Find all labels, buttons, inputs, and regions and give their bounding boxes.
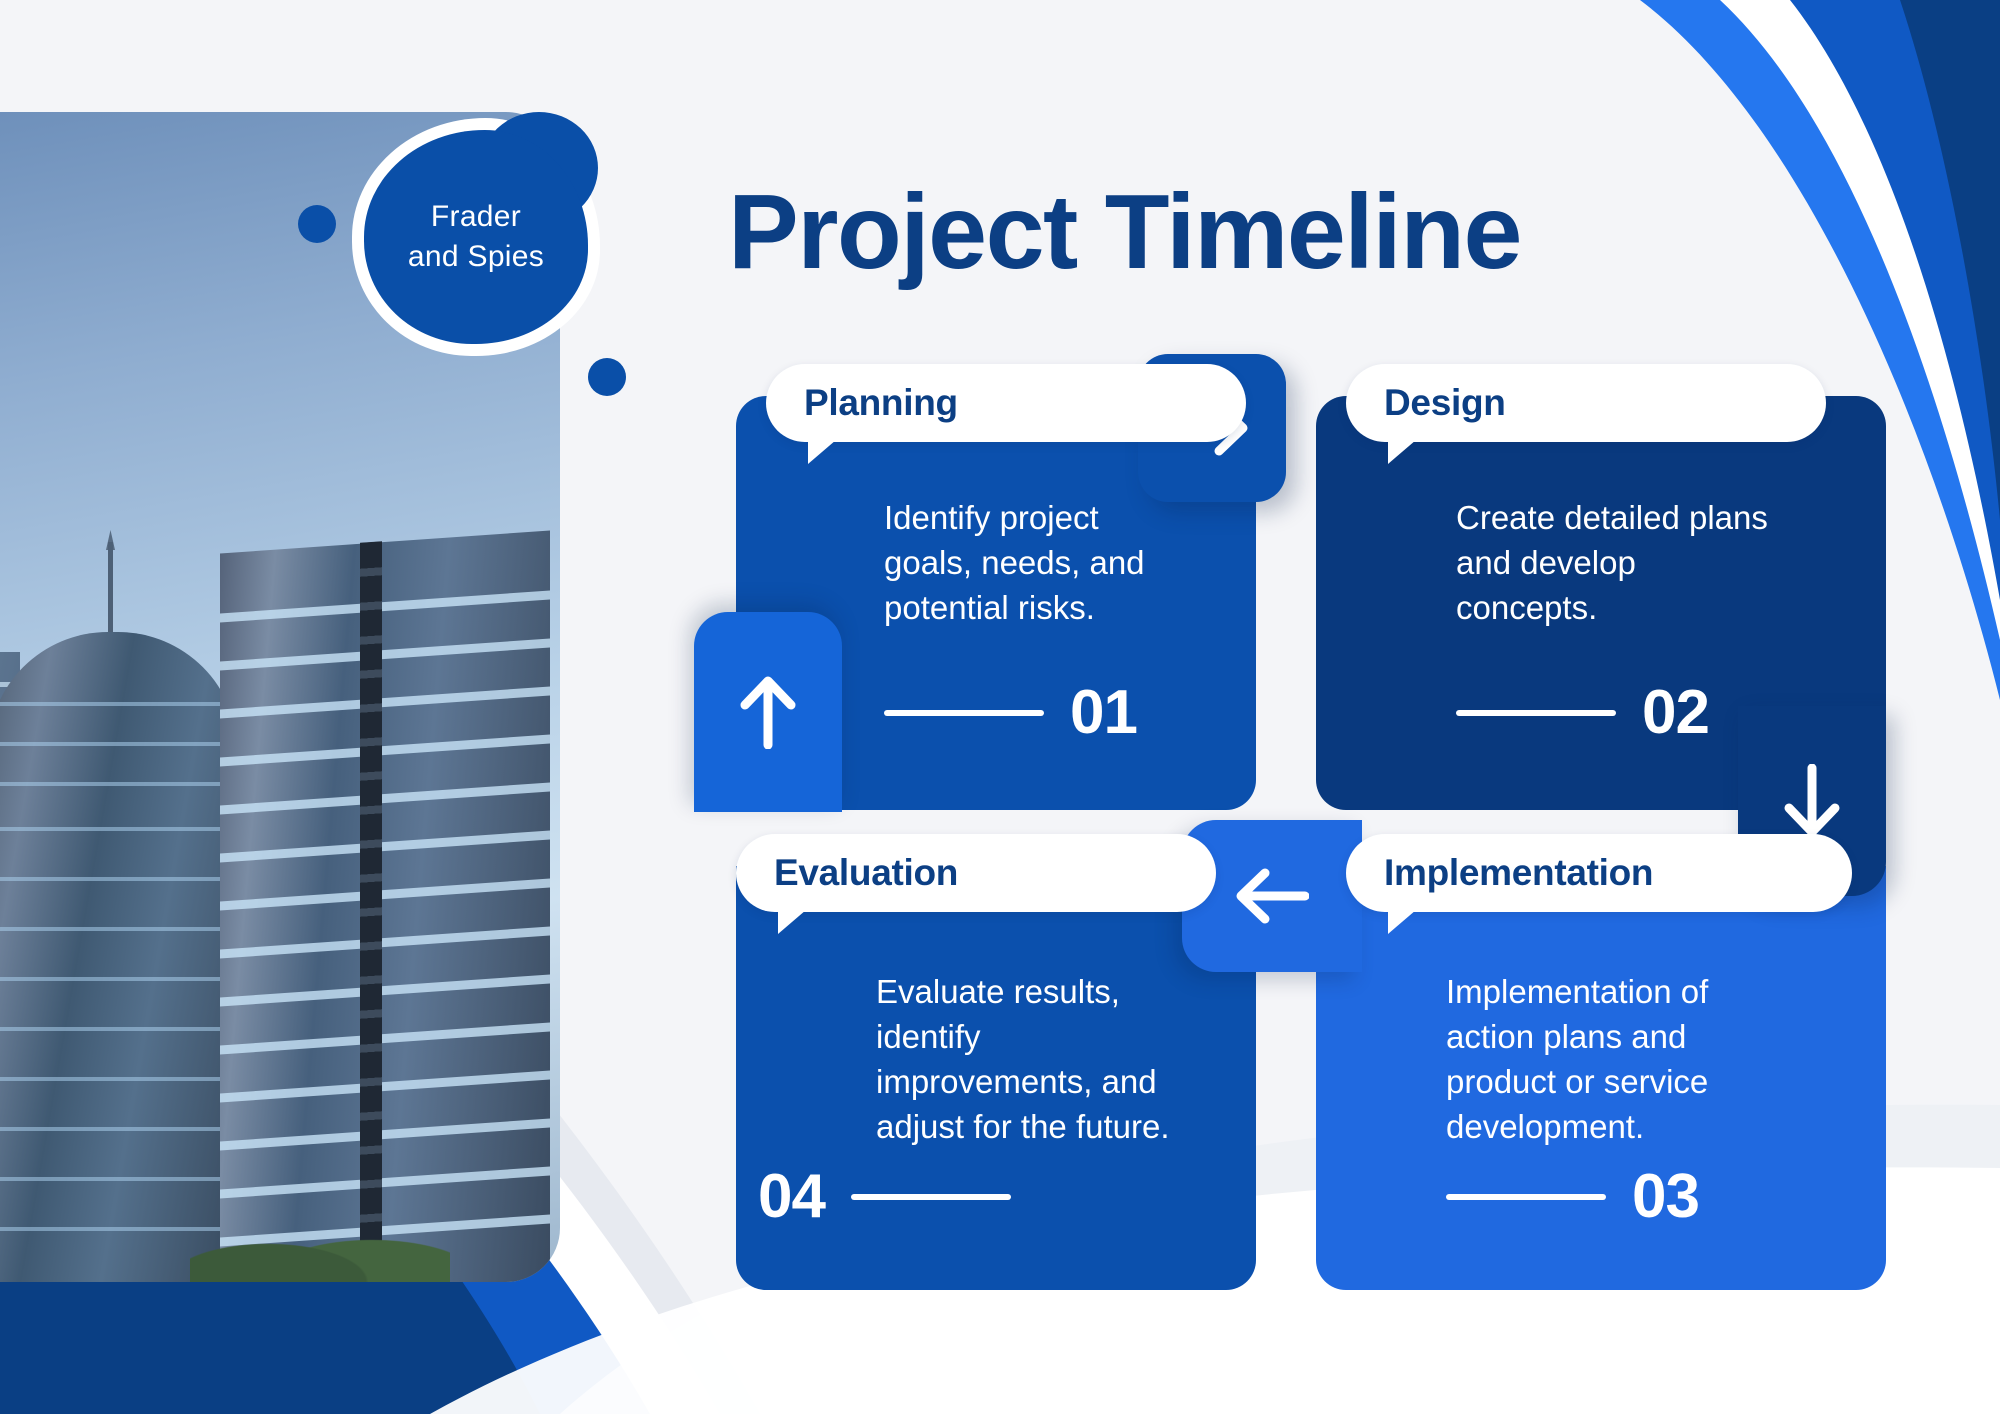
- arrow-up-icon: [737, 675, 799, 749]
- logo-line-2: and Spies: [408, 237, 544, 278]
- step-description-design: Create detailed plans and develop concep…: [1456, 496, 1776, 631]
- step-label-text: Evaluation: [774, 852, 958, 894]
- connector-arrow-left: [1182, 820, 1362, 972]
- step-label-implementation[interactable]: Implementation: [1346, 834, 1852, 912]
- slide-canvas: Frader and Spies Project Timeline Planni…: [0, 0, 2000, 1414]
- step-description-planning: Identify project goals, needs, and poten…: [884, 496, 1194, 631]
- photo-building-round: [0, 632, 238, 1282]
- step-rule: [884, 710, 1044, 716]
- arrow-left-icon: [1235, 865, 1309, 927]
- photo-building-tall: [220, 530, 550, 1282]
- step-number: 02: [1642, 682, 1709, 744]
- step-number: 03: [1632, 1166, 1699, 1228]
- timeline-card-evaluation[interactable]: Evaluation Evaluate results, identify im…: [736, 866, 1256, 1290]
- step-description-implementation: Implementation of action plans and produ…: [1446, 970, 1766, 1150]
- step-number: 04: [758, 1166, 825, 1228]
- decorative-dot-lower: [588, 358, 626, 396]
- timeline-grid: Planning Identify project goals, needs, …: [736, 396, 1886, 1290]
- connector-arrow-up: [694, 612, 842, 812]
- decorative-dot-upper: [298, 205, 336, 243]
- step-label-planning[interactable]: Planning: [766, 364, 1246, 442]
- step-number-row-design: 02: [1456, 682, 1709, 744]
- step-rule: [1456, 710, 1616, 716]
- step-description-evaluation: Evaluate results, identify improvements,…: [876, 970, 1206, 1150]
- arrow-down-icon: [1781, 764, 1843, 838]
- step-number-row-planning: 01: [884, 682, 1137, 744]
- step-label-text: Design: [1384, 382, 1506, 424]
- photo-foliage: [190, 1212, 450, 1282]
- brand-logo[interactable]: Frader and Spies: [352, 118, 600, 356]
- step-label-text: Planning: [804, 382, 958, 424]
- step-rule: [1446, 1194, 1606, 1200]
- step-number: 01: [1070, 682, 1137, 744]
- step-number-row-evaluation: 04: [758, 1166, 1011, 1228]
- step-label-evaluation[interactable]: Evaluation: [736, 834, 1216, 912]
- logo-text: Frader and Spies: [408, 197, 544, 278]
- step-label-design[interactable]: Design: [1346, 364, 1826, 442]
- timeline-card-implementation[interactable]: Implementation Implementation of action …: [1316, 866, 1886, 1290]
- step-number-row-implementation: 03: [1446, 1166, 1699, 1228]
- step-label-text: Implementation: [1384, 852, 1653, 894]
- step-rule: [851, 1194, 1011, 1200]
- photo-building-dark-column: [360, 541, 382, 1282]
- logo-line-1: Frader: [408, 197, 544, 238]
- brand-blob-logo-icon: Frader and Spies: [364, 130, 588, 344]
- page-title: Project Timeline: [728, 172, 1521, 293]
